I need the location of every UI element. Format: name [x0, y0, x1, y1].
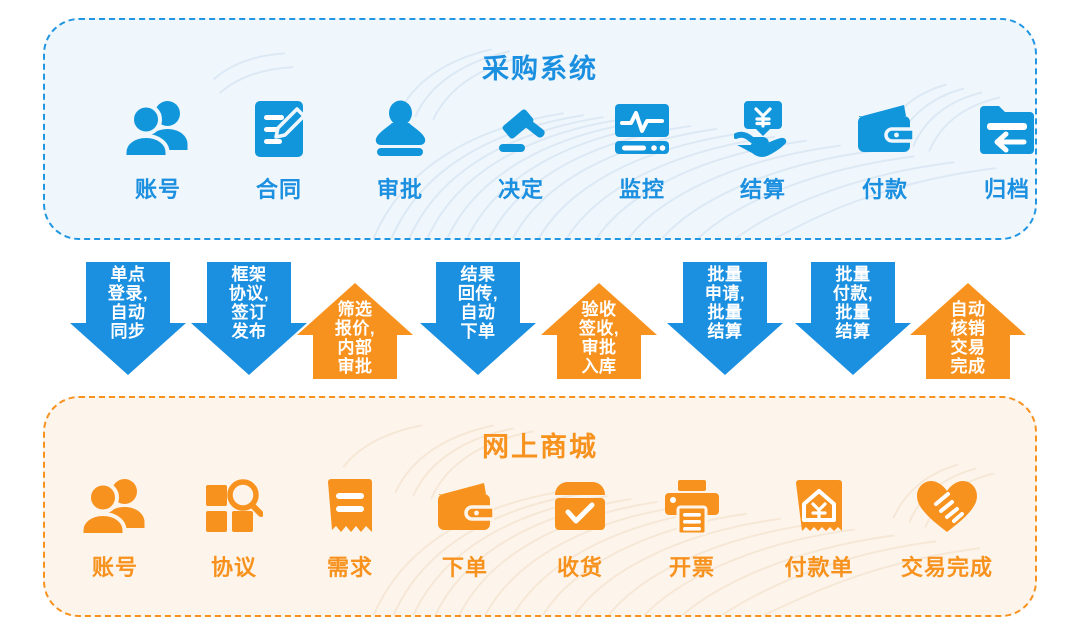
item-label: 协议 [174, 550, 294, 582]
item-requirement-bottom[interactable]: 需求 [290, 470, 410, 582]
online-mall-panel: 网上商城 账号 [43, 396, 1037, 617]
printer-invoice-icon [632, 470, 752, 544]
item-payment-slip-bottom[interactable]: 付款单 [759, 470, 879, 582]
arrow-down-sso: 单点登录,自动同步 [70, 262, 186, 375]
arrow-down-batch-payment: 批量付款,批量结算 [795, 262, 911, 375]
item-transaction-complete-bottom[interactable]: 交易完成 [887, 470, 1007, 582]
item-invoice-bottom[interactable]: 开票 [632, 470, 752, 582]
panel-title-mall: 网上商城 [45, 425, 1035, 464]
users-icon [55, 470, 175, 544]
arrow-up-acceptance: 验收签收,审批入库 [541, 283, 657, 379]
item-label: 付款单 [759, 550, 879, 582]
item-label: 账号 [55, 550, 175, 582]
box-check-receive-icon [520, 470, 640, 544]
item-label: 开票 [632, 550, 752, 582]
arrow-up-auto-writeoff: 自动核销交易完成 [910, 283, 1026, 379]
item-order-bottom[interactable]: 下单 [405, 470, 525, 582]
receipt-requirement-icon [290, 470, 410, 544]
payment-slip-yuan-icon [759, 470, 879, 544]
handshake-heart-icon [887, 470, 1007, 544]
grid-search-agreement-icon [174, 470, 294, 544]
wallet-order-icon [405, 470, 525, 544]
item-receive-bottom[interactable]: 收货 [520, 470, 640, 582]
arrow-up-quote-screening: 筛选报价,内部审批 [297, 283, 413, 379]
item-label: 需求 [290, 550, 410, 582]
arrow-down-batch-apply: 批量申请,批量结算 [667, 262, 783, 375]
item-account-bottom[interactable]: 账号 [55, 470, 175, 582]
item-label: 交易完成 [887, 550, 1007, 582]
item-agreement-bottom[interactable]: 协议 [174, 470, 294, 582]
arrow-down-auto-order: 结果回传,自动下单 [420, 262, 536, 375]
diagram-canvas: 采购系统 账号 [0, 0, 1080, 636]
item-label: 下单 [405, 550, 525, 582]
item-label: 收货 [520, 550, 640, 582]
arrow-down-framework-agreement: 框架协议,签订发布 [191, 262, 307, 375]
